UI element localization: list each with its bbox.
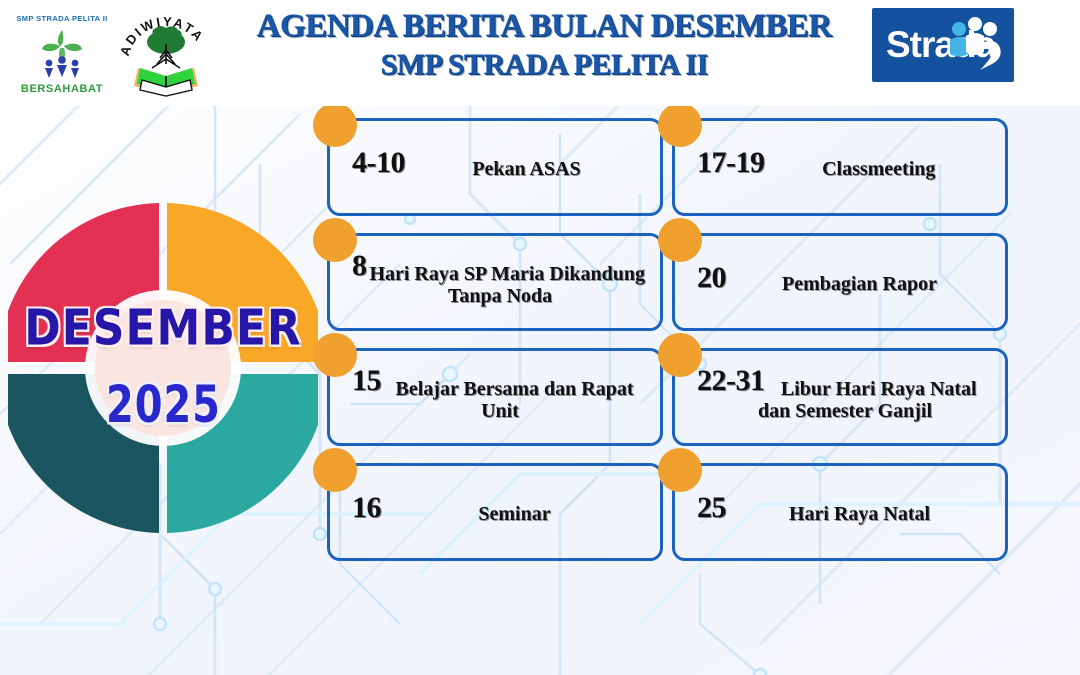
- agenda-dot-icon: [313, 218, 357, 262]
- agenda-dot-icon: [313, 103, 357, 147]
- agenda-column-left: 4-10 Pekan ASAS 8 Hari Raya SP Maria Dik…: [327, 118, 663, 578]
- poster-header: SMP STRADA PELITA II BERSAHABAT ADIWIYAT…: [0, 0, 1080, 106]
- quadrant-donut-icon: [8, 196, 318, 541]
- agenda-card[interactable]: 15 Belajar Bersama dan Rapat Unit: [327, 348, 663, 446]
- agenda-date: 20: [697, 263, 726, 294]
- agenda-card[interactable]: 25 Hari Raya Natal: [672, 463, 1008, 561]
- agenda-description: Hari Raya SP Maria Dikandung Tanpa Noda: [352, 257, 648, 308]
- agenda-date: 15: [352, 366, 381, 397]
- title-line-1: AGENDA BERITA BULAN DESEMBER: [226, 8, 862, 46]
- page-title: AGENDA BERITA BULAN DESEMBER SMP STRADA …: [226, 8, 862, 82]
- agenda-date: 16: [352, 493, 381, 524]
- calendar-badge: DESEMBER 2025: [8, 196, 318, 541]
- agenda-date: 4-10: [352, 148, 405, 179]
- agenda-date: 8: [352, 251, 367, 282]
- adiwiyata-logo-icon: ADIWIYATA: [116, 6, 216, 100]
- agenda-card[interactable]: 16 Seminar: [327, 463, 663, 561]
- agenda-dot-icon: [313, 448, 357, 492]
- svg-text:BERSAHABAT: BERSAHABAT: [21, 83, 103, 95]
- title-line-2: SMP STRADA PELITA II: [226, 48, 862, 83]
- agenda-card[interactable]: 4-10 Pekan ASAS: [327, 118, 663, 216]
- agenda-date: 17-19: [697, 148, 765, 179]
- pelita-bersahabat-logo-icon: SMP STRADA PELITA II BERSAHABAT: [14, 8, 110, 96]
- strada-people-icon: [944, 16, 1004, 72]
- agenda-card[interactable]: 17-19 Classmeeting: [672, 118, 1008, 216]
- agenda-description: Belajar Bersama dan Rapat Unit: [352, 372, 648, 423]
- strada-logo: Strada: [872, 8, 1014, 82]
- agenda-dot-icon: [658, 103, 702, 147]
- agenda-description: Pembagian Rapor: [697, 269, 993, 295]
- agenda-date: 22-31: [697, 366, 765, 397]
- agenda-description: Hari Raya Natal: [697, 499, 993, 525]
- agenda-dot-icon: [658, 448, 702, 492]
- agenda-card[interactable]: 8 Hari Raya SP Maria Dikandung Tanpa Nod…: [327, 233, 663, 331]
- agenda-column-right: 17-19 Classmeeting 20 Pembagian Rapor 22…: [672, 118, 1008, 578]
- agenda-date: 25: [697, 493, 726, 524]
- agenda-card[interactable]: 22-31 Libur Hari Raya Natal dan Semester…: [672, 348, 1008, 446]
- agenda-dot-icon: [313, 333, 357, 377]
- svg-text:SMP STRADA PELITA II: SMP STRADA PELITA II: [16, 14, 107, 23]
- agenda-description: Seminar: [352, 499, 648, 525]
- agenda-dot-icon: [658, 218, 702, 262]
- agenda-card[interactable]: 20 Pembagian Rapor: [672, 233, 1008, 331]
- agenda-poster: SMP STRADA PELITA II BERSAHABAT ADIWIYAT…: [0, 0, 1080, 675]
- agenda-dot-icon: [658, 333, 702, 377]
